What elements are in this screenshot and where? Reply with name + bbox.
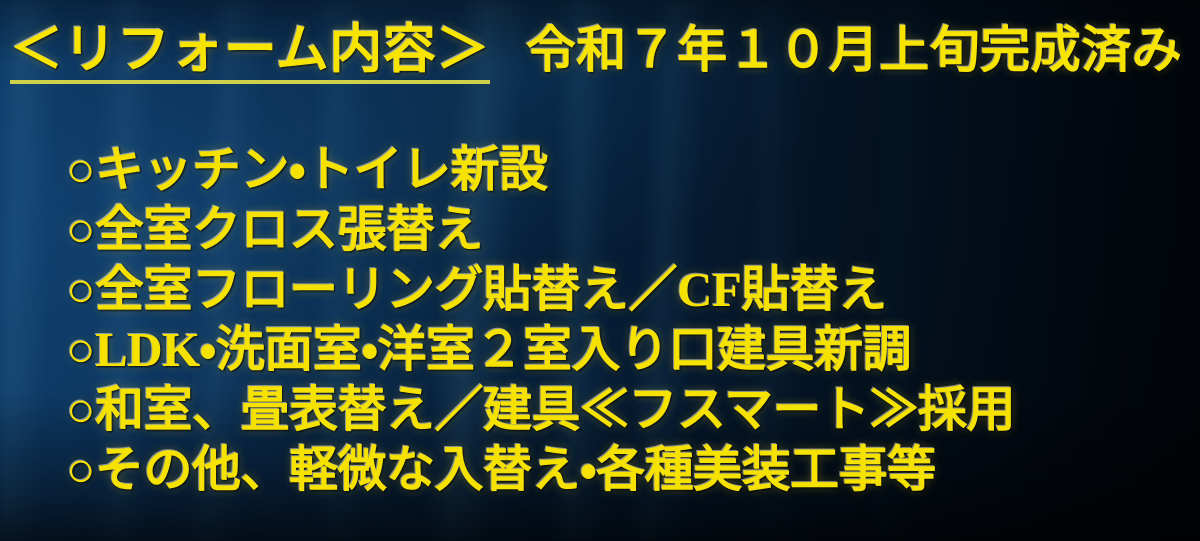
reform-items-list: ○キッチン・トイレ新設 ○全室クロス張替え ○全室フローリング貼替え／CF貼替え… [66, 140, 1192, 500]
list-item: ○全室フローリング貼替え／CF貼替え [66, 260, 1192, 320]
list-item: ○その他、軽微な入替え・各種美装工事等 [66, 440, 1192, 500]
page-title: ＜リフォーム内容＞ [10, 22, 490, 84]
list-item: ○和室、畳表替え／建具≪フスマート≫採用 [66, 380, 1192, 440]
slide-content: ＜リフォーム内容＞ 令和７年１０月上旬完成済み ○キッチン・トイレ新設 ○全室ク… [0, 0, 1200, 541]
list-item: ○LDK・洗面室・洋室２室入り口建具新調 [66, 320, 1192, 380]
reform-details-slide: ＜リフォーム内容＞ 令和７年１０月上旬完成済み ○キッチン・トイレ新設 ○全室ク… [0, 0, 1200, 541]
list-item: ○キッチン・トイレ新設 [66, 140, 1192, 200]
completion-date-label: 令和７年１０月上旬完成済み [526, 24, 1183, 77]
list-item: ○全室クロス張替え [66, 200, 1192, 260]
header: ＜リフォーム内容＞ 令和７年１０月上旬完成済み [10, 22, 1200, 84]
